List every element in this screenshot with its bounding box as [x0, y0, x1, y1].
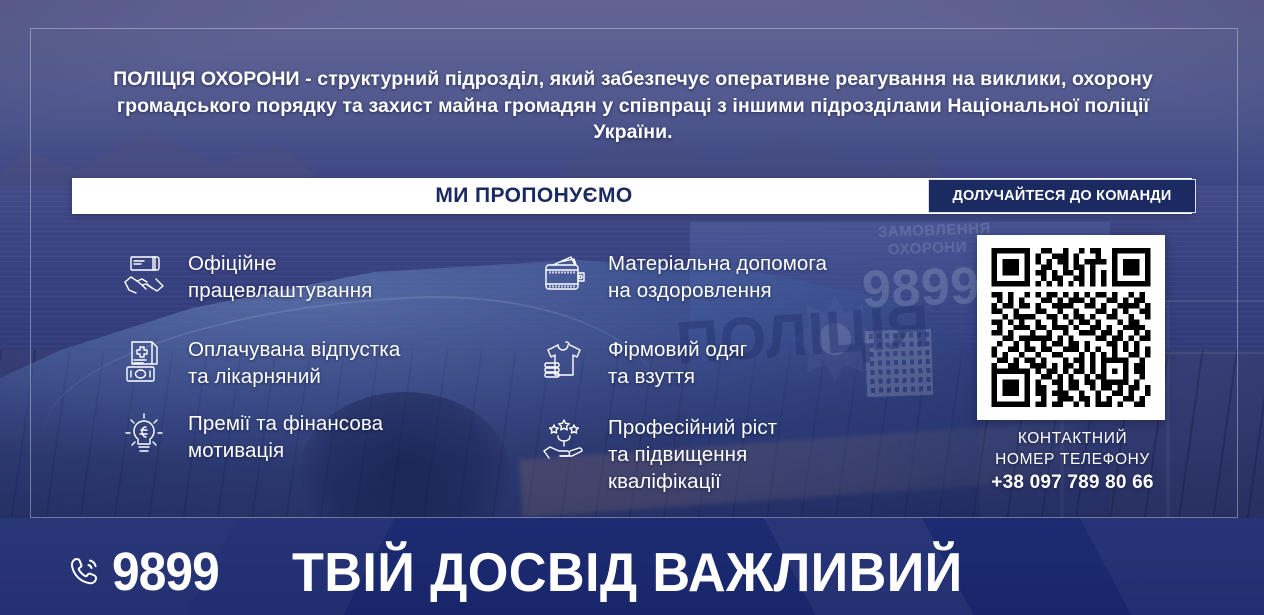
benefit-label: Фірмовий одяг та взуття: [608, 335, 747, 390]
benefit-item: Офіційне працевлаштування: [118, 249, 372, 304]
offer-title: МИ ПРОПОНУЄМО: [435, 184, 632, 208]
hand-stars-icon: [538, 413, 590, 465]
contact-phone-number[interactable]: +38 097 789 80 66: [960, 472, 1185, 494]
short-phone-number[interactable]: 9899: [112, 546, 219, 598]
benefit-item: Матеріальна допомога на оздоровлення: [538, 249, 827, 304]
benefit-label: Матеріальна допомога на оздоровлення: [608, 249, 827, 304]
tshirt-clothes-icon: [538, 335, 590, 387]
join-team-button[interactable]: ДОЛУЧАЙТЕСЯ ДО КОМАНДИ: [928, 179, 1196, 213]
benefit-label: Премії та фінансова мотивація: [188, 409, 383, 464]
medical-document-money-icon: [118, 335, 170, 387]
footer-bar: 9899 ТВІЙ ДОСВІД ВАЖЛИВИЙ Усі дзвінки з …: [0, 518, 1264, 615]
benefit-item: Фірмовий одяг та взуття: [538, 335, 747, 390]
benefit-label: Офіційне працевлаштування: [188, 249, 372, 304]
benefits-section: Офіційне працевлаштування Оплачувана від…: [118, 243, 958, 505]
contact-label: КОНТАКТНИЙ НОМЕР ТЕЛЕФОНУ: [960, 428, 1185, 470]
contact-block: КОНТАКТНИЙ НОМЕР ТЕЛЕФОНУ +38 097 789 80…: [960, 428, 1185, 494]
footer-content: 9899 ТВІЙ ДОСВІД ВАЖЛИВИЙ Усі дзвінки з …: [0, 518, 1264, 615]
benefit-item: Професійний ріст та підвищення кваліфіка…: [538, 413, 777, 495]
benefit-item: Премії та фінансова мотивація: [118, 409, 383, 464]
phone-icon: [68, 554, 102, 588]
qr-code[interactable]: [990, 248, 1152, 407]
wallet-cash-icon: [538, 249, 590, 301]
lightbulb-hryvnia-icon: [118, 409, 170, 461]
benefit-item: Оплачувана відпустка та лікарняний: [118, 335, 400, 390]
benefit-label: Професійний ріст та підвищення кваліфіка…: [608, 413, 777, 495]
footer-slogan: ТВІЙ ДОСВІД ВАЖЛИВИЙ: [292, 545, 963, 599]
poster-root: ЗАМОВЛЕННЯ ОХОРОНИ 9899 ПОЛІЦІЯ ПОЛІЦІЯ …: [0, 0, 1264, 615]
qr-code-panel[interactable]: [977, 235, 1165, 420]
lead-paragraph: ПОЛІЦІЯ ОХОРОНИ - структурний підрозділ,…: [78, 66, 1188, 146]
handshake-certificate-icon: [118, 249, 170, 301]
benefit-label: Оплачувана відпустка та лікарняний: [188, 335, 400, 390]
